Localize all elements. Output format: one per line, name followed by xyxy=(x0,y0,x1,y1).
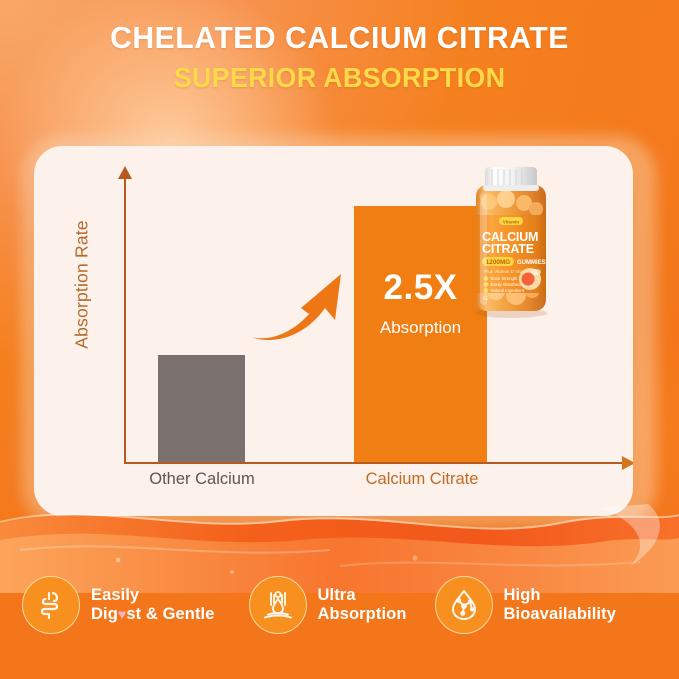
y-axis-line xyxy=(124,178,126,464)
svg-text:GUMMIES: GUMMIES xyxy=(517,260,546,266)
svg-text:Easily Absorbed: Easily Absorbed xyxy=(491,282,522,287)
feature-ultra-absorption[interactable]: Ultra Absorption xyxy=(249,576,407,634)
feature-easily-digest[interactable]: Easily Dig♥st & Gentle xyxy=(22,576,215,634)
feature-label-easily-digest: Easily Dig♥st & Gentle xyxy=(91,586,215,624)
feature-line2: Absorption xyxy=(318,605,407,624)
x-tick-calcium-citrate: Calcium Citrate xyxy=(322,470,522,489)
molecule-drop-icon xyxy=(435,576,493,634)
feature-label-high-bioavailability: High Bioavailability xyxy=(504,586,616,624)
water-drop-absorption-icon xyxy=(249,576,307,634)
feature-label-ultra-absorption: Ultra Absorption xyxy=(318,586,407,624)
bar-other-calcium xyxy=(158,355,245,462)
page-subtitle: SUPERIOR ABSORPTION xyxy=(14,63,666,94)
page-title: CHELATED CALCIUM CITRATE xyxy=(10,20,669,57)
feature-line2: Dig♥st & Gentle xyxy=(91,605,215,624)
svg-text:1200MG: 1200MG xyxy=(486,259,511,266)
svg-text:Bone Strength: Bone Strength xyxy=(491,276,518,281)
x-axis-arrow-icon xyxy=(622,456,633,470)
product-bottle: Vitamin CALCIUM CITRATE 1200MG GUMMIES P… xyxy=(456,157,566,322)
feature-line1: High xyxy=(504,586,541,604)
y-axis-arrow-icon xyxy=(118,166,132,179)
svg-text:Vitamin: Vitamin xyxy=(503,219,520,224)
feature-badges-row: Easily Dig♥st & Gentle Ultra Absorp xyxy=(0,565,679,645)
intestine-icon xyxy=(22,576,80,634)
svg-text:CITRATE: CITRATE xyxy=(482,242,534,256)
y-axis-label: Absorption Rate xyxy=(72,175,93,395)
feature-line1: Easily xyxy=(91,586,139,604)
svg-text:Natural Ingredient: Natural Ingredient xyxy=(491,288,525,293)
feature-high-bioavailability[interactable]: High Bioavailability xyxy=(435,576,616,634)
headline-block: CHELATED CALCIUM CITRATE SUPERIOR ABSORP… xyxy=(0,20,679,93)
x-axis-line xyxy=(124,462,629,464)
feature-line2: Bioavailability xyxy=(504,605,616,624)
growth-arrow-icon xyxy=(249,264,349,344)
feature-line1: Ultra xyxy=(318,586,356,604)
x-tick-other-calcium: Other Calcium xyxy=(128,470,276,489)
